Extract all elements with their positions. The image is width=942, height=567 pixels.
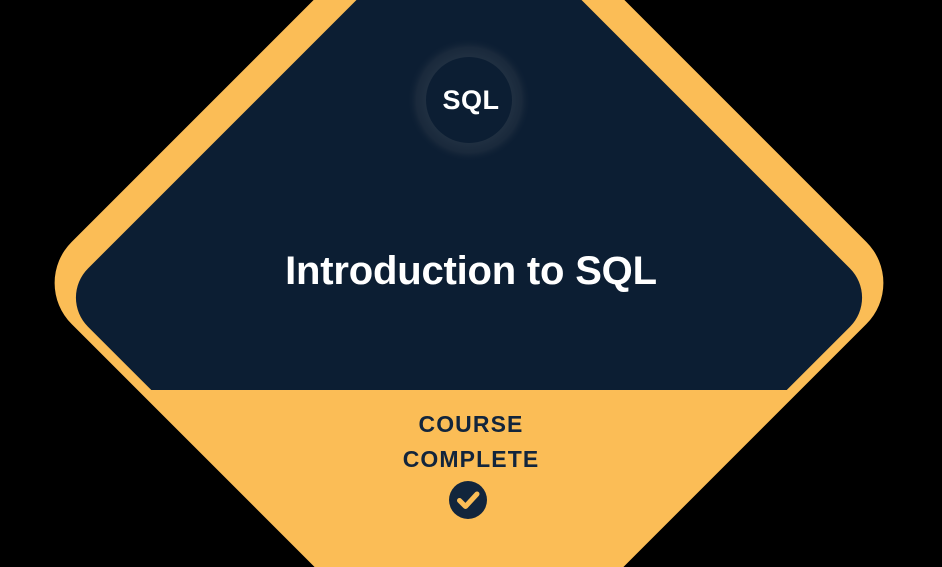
sql-tag-ring-core	[426, 57, 512, 143]
badge-graphic	[0, 0, 942, 567]
check-icon-circle	[449, 481, 487, 519]
check-icon	[449, 481, 487, 519]
sql-tag-ring	[407, 38, 531, 162]
certificate-badge-canvas: SQL Introduction to SQL COURSE COMPLETE	[0, 0, 942, 567]
